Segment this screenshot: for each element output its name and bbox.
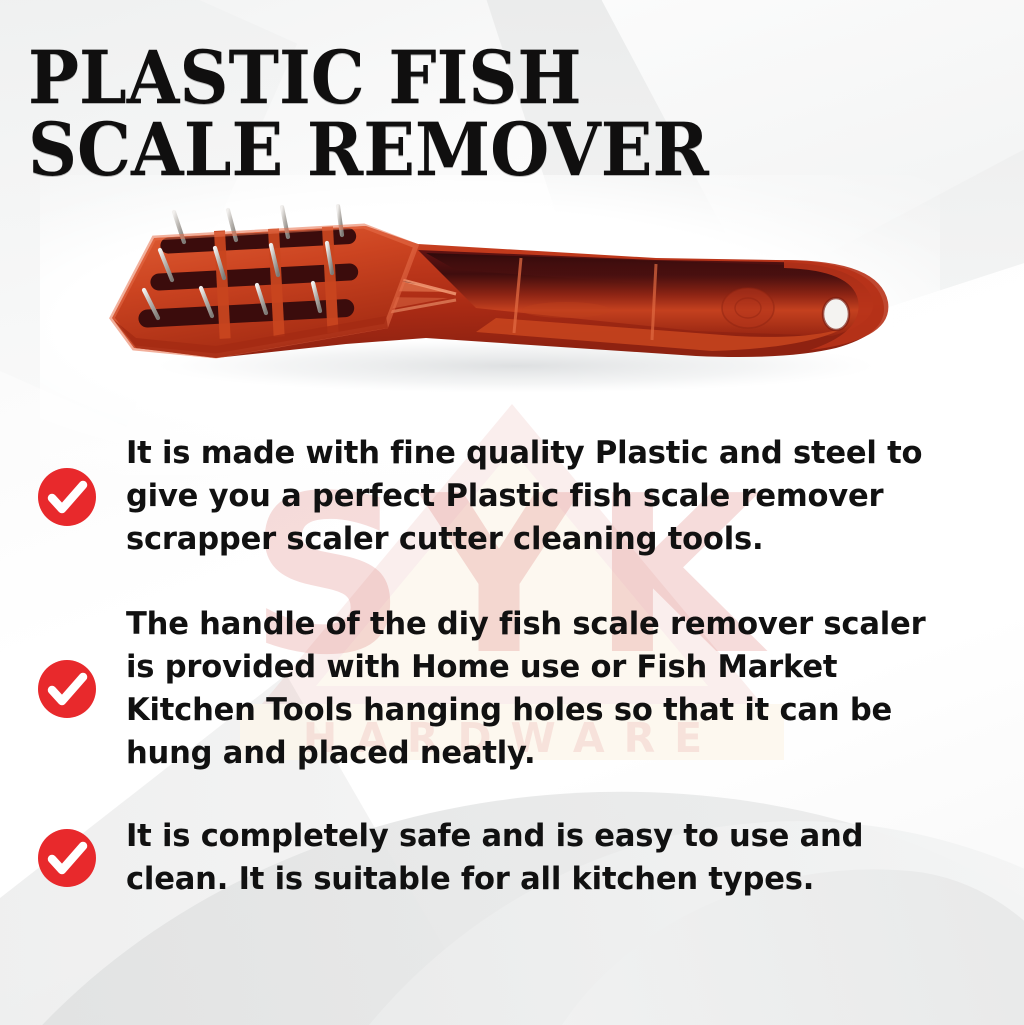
check-circle-icon	[36, 658, 98, 720]
feature-1-line-1: It is made with fine quality Plastic and…	[126, 432, 922, 475]
feature-item-1: It is made with fine quality Plastic and…	[0, 432, 1024, 561]
product-image	[96, 198, 908, 398]
title-line-1: PLASTIC FISH	[28, 42, 709, 114]
check-circle-icon	[36, 827, 98, 889]
feature-item-3: It is completely safe and is easy to use…	[0, 815, 1024, 901]
product-infographic-poster: SYK HARDWARE PLASTIC FISH SCALE REMOVER	[0, 0, 1024, 1025]
feature-text-3: It is completely safe and is easy to use…	[126, 815, 863, 901]
feature-text-1: It is made with fine quality Plastic and…	[126, 432, 922, 561]
feature-list: It is made with fine quality Plastic and…	[0, 432, 1024, 901]
feature-2-line-4: hung and placed neatly.	[126, 732, 925, 775]
title-line-2: SCALE REMOVER	[28, 114, 709, 186]
feature-1-line-3: scrapper scaler cutter cleaning tools.	[126, 518, 922, 561]
feature-1-line-2: give you a perfect Plastic fish scale re…	[126, 475, 922, 518]
product-illustration	[96, 198, 908, 398]
page-title: PLASTIC FISH SCALE REMOVER	[28, 42, 760, 186]
feature-3-line-2: clean. It is suitable for all kitchen ty…	[126, 858, 863, 901]
handle-moulded-text	[522, 302, 610, 318]
feature-2-line-1: The handle of the diy fish scale remover…	[126, 603, 925, 646]
feature-item-2: The handle of the diy fish scale remover…	[0, 603, 1024, 775]
feature-2-line-2: is provided with Home use or Fish Market	[126, 646, 925, 689]
feature-text-2: The handle of the diy fish scale remover…	[126, 603, 925, 775]
check-circle-icon	[36, 466, 98, 528]
feature-2-line-3: Kitchen Tools hanging holes so that it c…	[126, 689, 925, 732]
feature-3-line-1: It is completely safe and is easy to use…	[126, 815, 863, 858]
